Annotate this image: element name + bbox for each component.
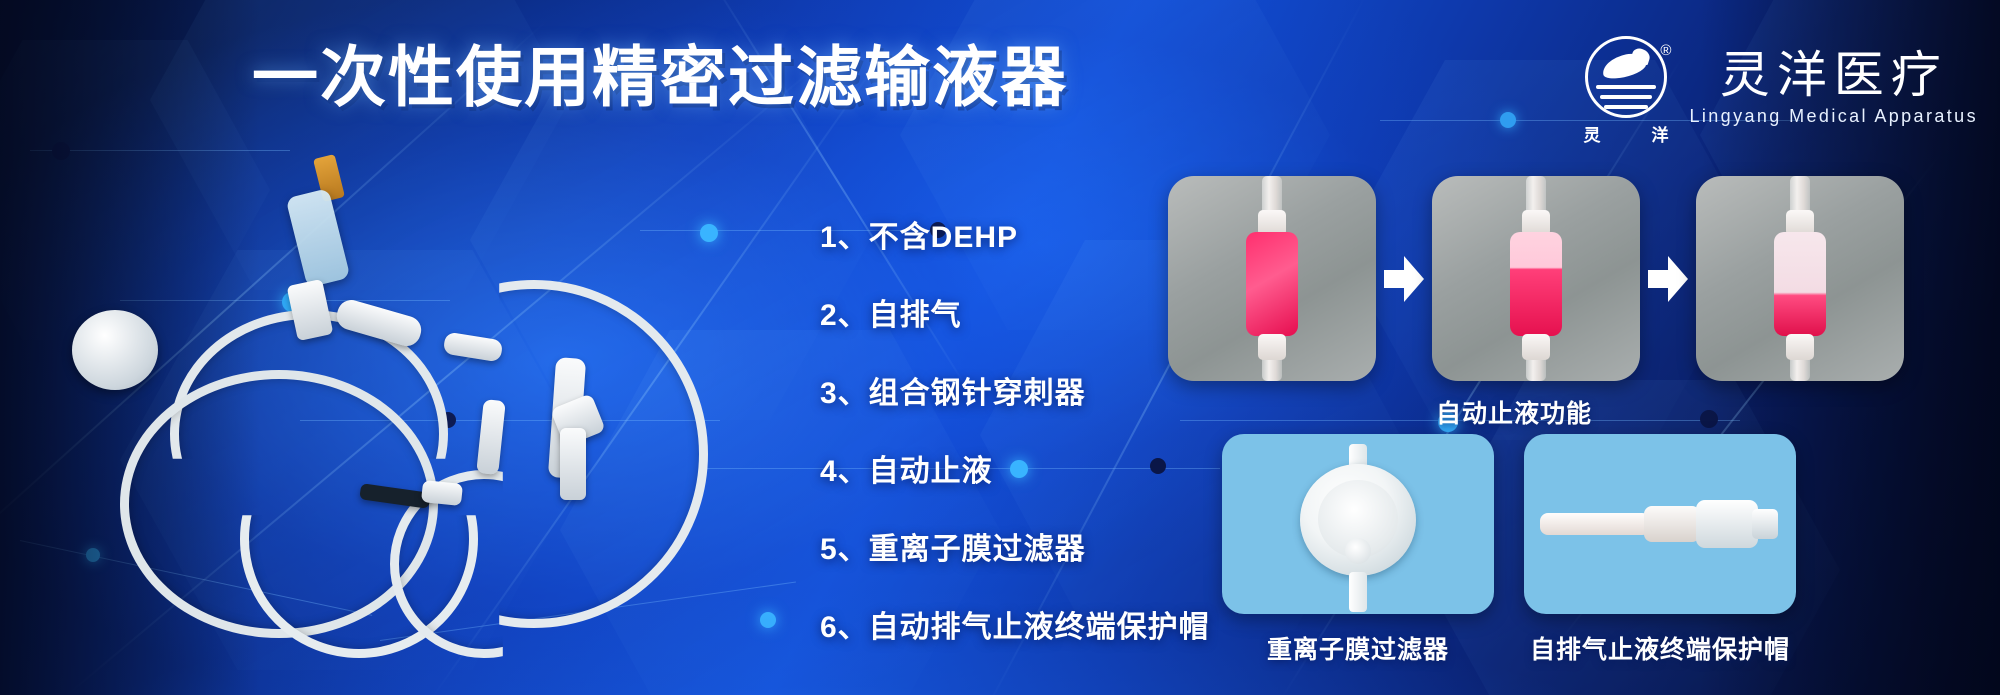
network-node [1500, 112, 1516, 128]
logo-circle-icon [1585, 36, 1667, 118]
logo-char-right: 洋 [1651, 121, 1669, 146]
lower-connector [1522, 334, 1550, 360]
logo-emblem: ® 灵 洋 [1583, 36, 1669, 140]
feature-item: 2、自排气 [820, 290, 1210, 334]
filter-outlet-boss [1345, 538, 1371, 564]
product-illustration [60, 190, 800, 670]
sequence-caption: 自动止液功能 [1168, 394, 1860, 430]
y-site-injection-port [443, 332, 504, 363]
feature-item: 4、自动止液 [820, 446, 1210, 490]
sequence-photo-3 [1696, 176, 1904, 381]
terminal-protective-cap [560, 428, 586, 500]
arrow-right-icon [1384, 256, 1424, 302]
auto-stop-sequence [1168, 176, 1904, 381]
sequence-photo-1 [1168, 176, 1376, 381]
logo-wave-shape [1596, 85, 1656, 89]
feature-item: 3、组合钢针穿刺器 [820, 368, 1210, 412]
photo-card-filter [1222, 434, 1494, 614]
product-photo-cards [1222, 434, 1796, 614]
photo-card-cap [1524, 434, 1796, 614]
filter-chamber [1510, 232, 1562, 336]
registered-trademark-icon: ® [1660, 42, 1671, 59]
filter-chamber [1774, 232, 1826, 336]
sequence-photo-2 [1432, 176, 1640, 381]
product-banner: 一次性使用精密过滤输液器 ® 灵 洋 灵洋医疗 Lingyang Medical… [0, 0, 2000, 695]
photo-card-caption: 自排气止液终端保护帽 [1524, 630, 1796, 666]
logo-wave-shape [1600, 95, 1652, 99]
filter-chamber [1246, 232, 1298, 336]
drip-chamber [286, 188, 351, 288]
cap-tube-section [1540, 513, 1650, 535]
cap-protective-housing [1696, 500, 1758, 548]
cap-end-tip [1752, 509, 1778, 539]
arrow-right-icon [1648, 256, 1688, 302]
tube-joint [421, 480, 463, 506]
page-title: 一次性使用精密过滤输液器 [252, 44, 1068, 110]
logo-chinese-characters: 灵 洋 [1583, 121, 1669, 146]
lower-connector [1258, 334, 1286, 360]
photo-card-caption: 重离子膜过滤器 [1222, 630, 1494, 666]
lower-connector [1786, 334, 1814, 360]
filter-outlet-port [1349, 572, 1367, 612]
feature-item: 1、不含DEHP [820, 212, 1210, 256]
logo-wordmark: 灵洋医疗 Lingyang Medical Apparatus [1689, 49, 1978, 127]
terminal-round-filter [72, 310, 158, 390]
logo-wave-shape [1604, 105, 1648, 109]
feature-item: 6、自动排气止液终端保护帽 [820, 602, 1210, 646]
brand-name-en: Lingyang Medical Apparatus [1689, 106, 1978, 127]
company-logo: ® 灵 洋 灵洋医疗 Lingyang Medical Apparatus [1583, 36, 1978, 140]
logo-char-left: 灵 [1583, 121, 1601, 146]
feature-list: 1、不含DEHP 2、自排气 3、组合钢针穿刺器 4、自动止液 5、重离子膜过滤… [820, 212, 1210, 646]
feature-item: 5、重离子膜过滤器 [820, 524, 1210, 568]
cap-luer-connector [1644, 506, 1700, 542]
brand-name-cn: 灵洋医疗 [1720, 49, 1948, 102]
